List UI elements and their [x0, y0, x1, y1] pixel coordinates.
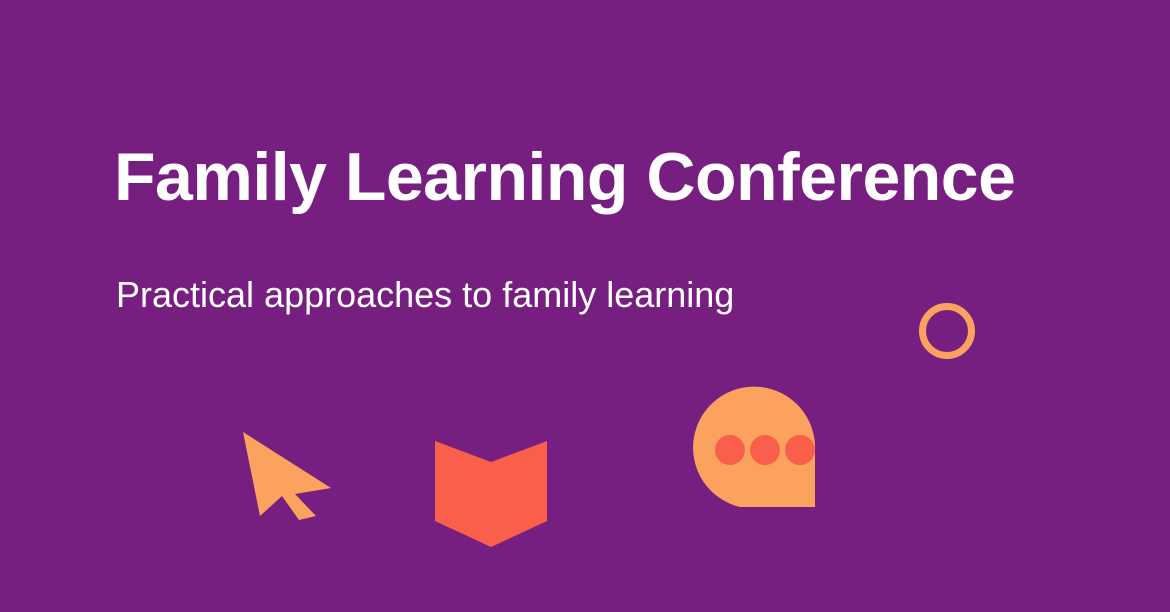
banner-background	[0, 0, 1170, 612]
circle-outline-icon	[916, 300, 978, 362]
conference-banner: Family Learning Conference Practical app…	[0, 0, 1170, 612]
bubble-dot-1	[715, 435, 745, 465]
bubble-dot-2	[750, 435, 780, 465]
cursor-arrow-icon	[228, 420, 338, 520]
open-book-icon	[430, 436, 552, 552]
speech-bubble-icon	[686, 386, 820, 512]
bubble-dot-3	[785, 435, 815, 465]
